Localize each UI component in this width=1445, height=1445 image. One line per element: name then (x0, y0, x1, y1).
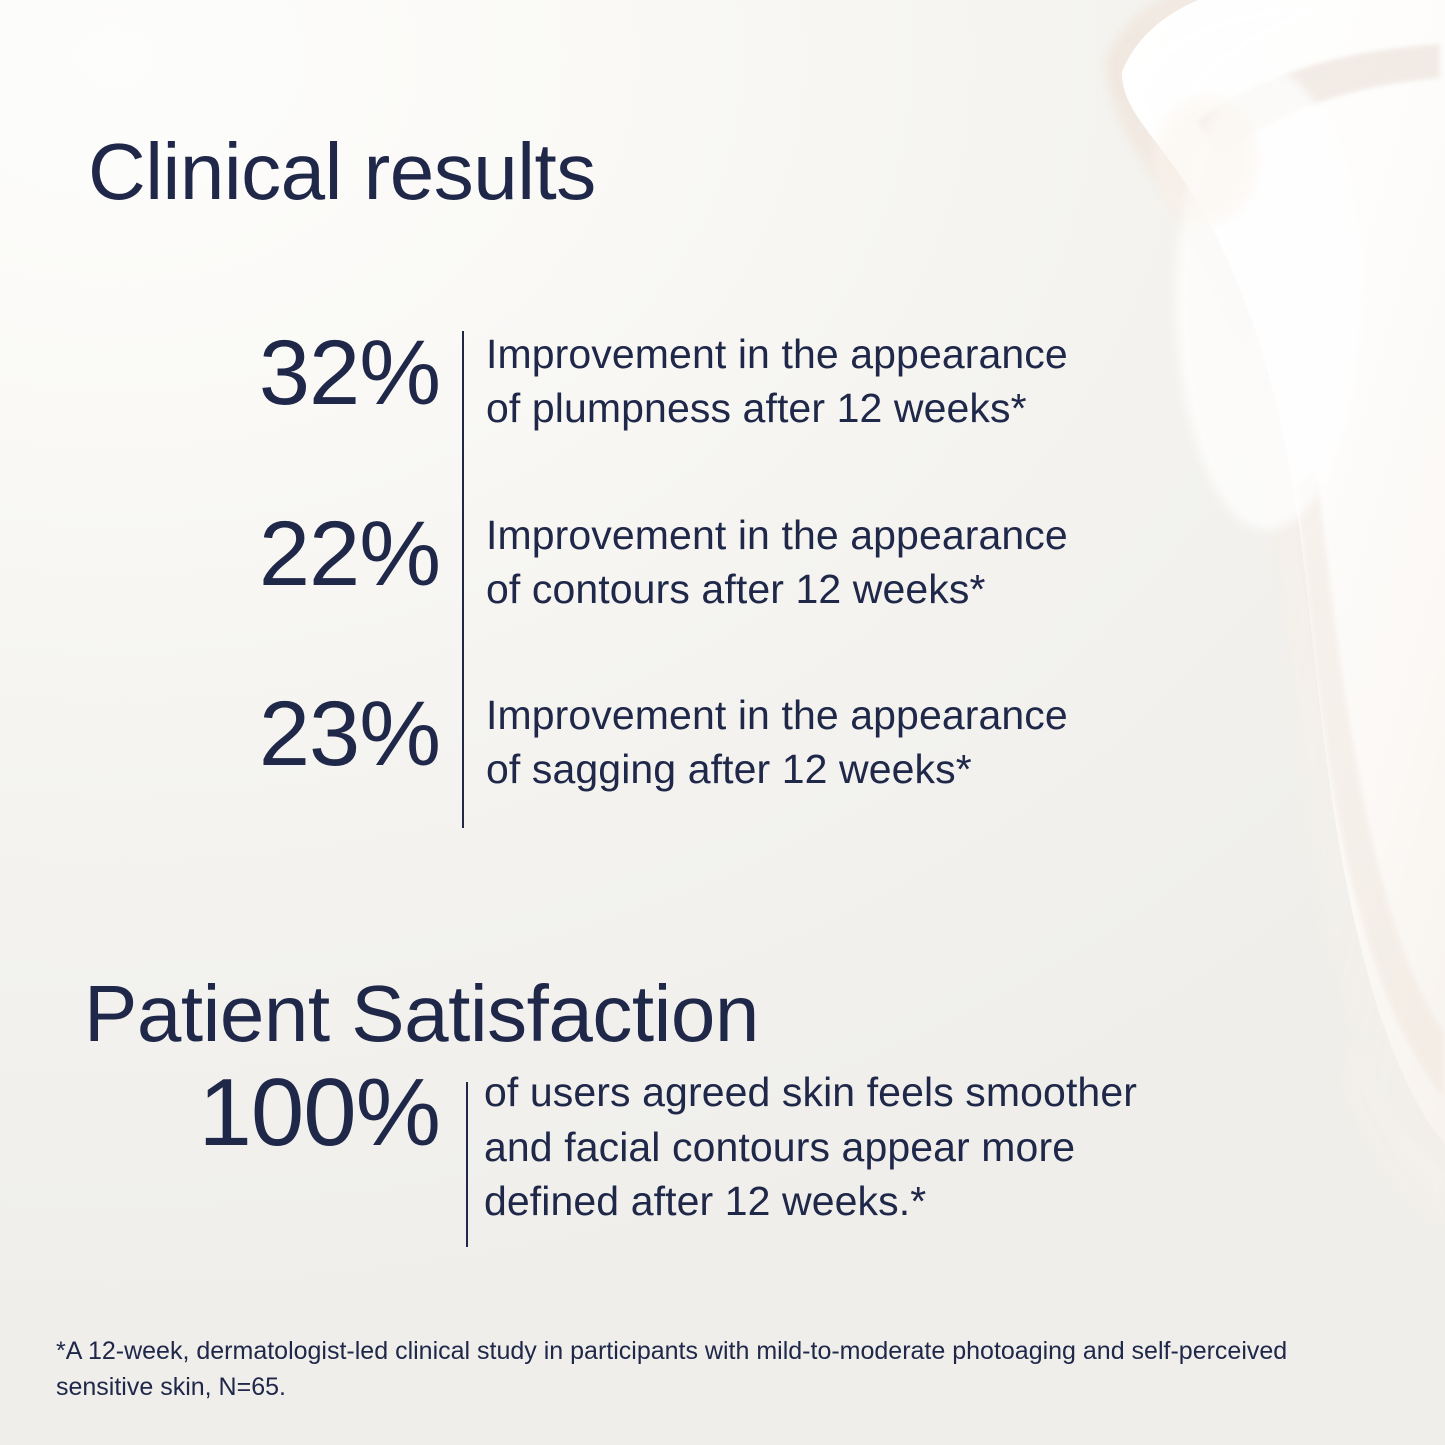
stat-description-line: of users agreed skin feels smoother (484, 1065, 1137, 1120)
divider-patient-satisfaction (466, 1082, 468, 1247)
stat-row: 22% Improvement in the appearance of con… (100, 508, 1068, 616)
stat-description-line: of plumpness after 12 weeks* (486, 381, 1068, 435)
footnote-line: *A 12-week, dermatologist-led clinical s… (56, 1334, 1356, 1370)
stat-description-line: of sagging after 12 weeks* (486, 742, 1068, 796)
stat-value: 100% (60, 1065, 440, 1161)
footnote: *A 12-week, dermatologist-led clinical s… (56, 1334, 1356, 1405)
stat-description-line: and facial contours appear more (484, 1120, 1137, 1175)
stat-row: 23% Improvement in the appearance of sag… (100, 688, 1068, 796)
clinical-results-infographic: Clinical results 32% Improvement in the … (0, 0, 1445, 1445)
stat-description: Improvement in the appearance of sagging… (486, 688, 1068, 796)
stat-value: 23% (100, 688, 440, 780)
stat-row-satisfaction: 100% of users agreed skin feels smoother… (60, 1065, 1137, 1229)
stat-description-line: Improvement in the appearance (486, 688, 1068, 742)
divider-clinical (462, 331, 464, 828)
page-title-clinical-results: Clinical results (88, 132, 596, 212)
stat-description-line: of contours after 12 weeks* (486, 562, 1068, 616)
stat-description-line: defined after 12 weeks.* (484, 1174, 1137, 1229)
stat-description-line: Improvement in the appearance (486, 327, 1068, 381)
stat-description: of users agreed skin feels smoother and … (484, 1065, 1137, 1229)
stat-description: Improvement in the appearance of contour… (486, 508, 1068, 616)
stat-row: 32% Improvement in the appearance of plu… (100, 327, 1068, 435)
stat-value: 22% (100, 508, 440, 600)
stat-description: Improvement in the appearance of plumpne… (486, 327, 1068, 435)
stat-description-line: Improvement in the appearance (486, 508, 1068, 562)
footnote-line: sensitive skin, N=65. (56, 1370, 1356, 1406)
stat-value: 32% (100, 327, 440, 419)
page-title-patient-satisfaction: Patient Satisfaction (84, 974, 759, 1054)
